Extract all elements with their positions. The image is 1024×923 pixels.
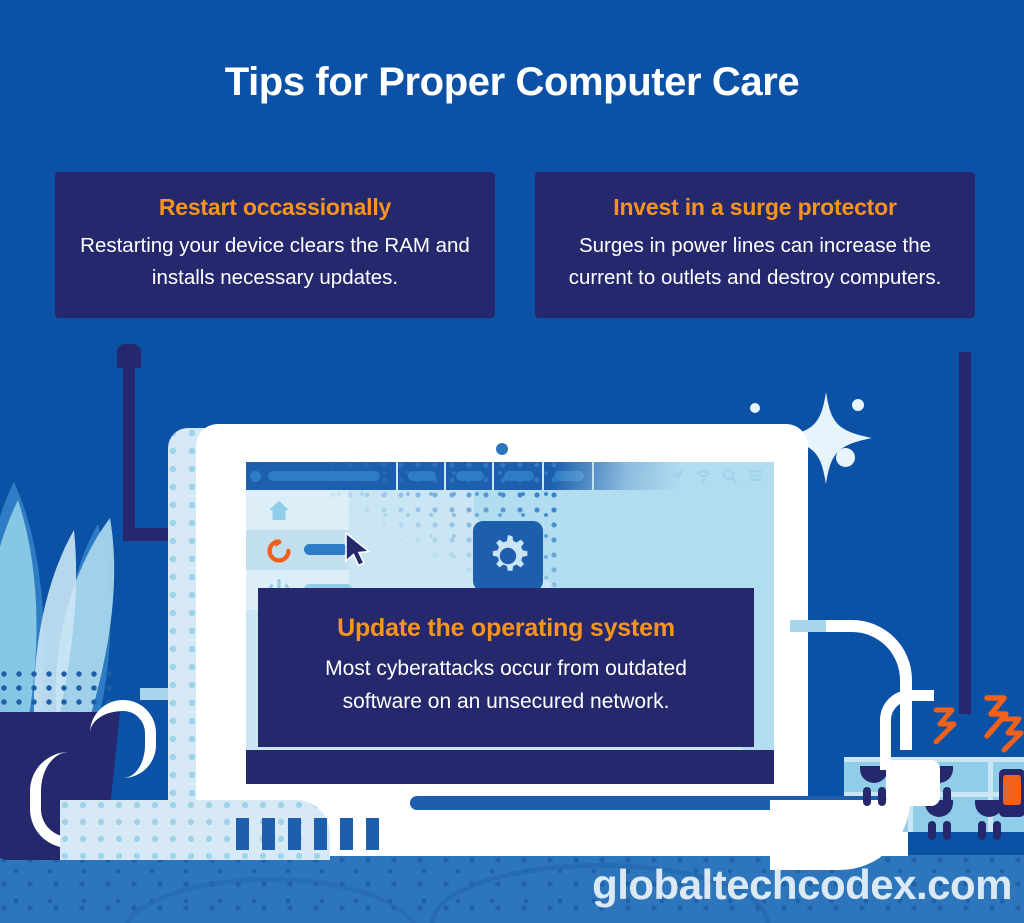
- outlet-pins: [978, 821, 1003, 840]
- laptop-vent: [366, 818, 379, 850]
- gear-icon: [484, 532, 532, 580]
- power-cable-left-bend-2: [90, 700, 156, 778]
- lightning-bolt-icon: [932, 706, 958, 746]
- connector-left-vertical: [123, 352, 135, 534]
- tip-card-body: Surges in power lines can increase the c…: [557, 230, 953, 294]
- outlet-pins: [863, 787, 888, 806]
- laptop-vent: [262, 818, 275, 850]
- laptop-vent: [340, 818, 353, 850]
- power-strip-switch-indicator: [1003, 775, 1021, 805]
- wifi-icon[interactable]: [695, 467, 712, 484]
- menu-icon[interactable]: [747, 467, 764, 484]
- lightning-bolt-icon: [1000, 716, 1024, 754]
- tip-card-title: Invest in a surge protector: [557, 194, 953, 221]
- home-icon: [268, 500, 290, 521]
- screen-lower-panel: [246, 750, 774, 784]
- watermark: globaltechcodex.com: [0, 861, 1024, 909]
- laptop-power-jack: [790, 620, 826, 632]
- tip-card-title: Update the operating system: [284, 614, 728, 643]
- infographic-canvas: Tips for Proper Computer Care: [0, 0, 1024, 923]
- gear-badge[interactable]: [473, 521, 543, 591]
- laptop-vent: [314, 818, 327, 850]
- search-icon[interactable]: [721, 467, 738, 484]
- outlet-pins: [928, 821, 953, 840]
- sparkle-dot-3: [836, 448, 855, 467]
- tip-card-restart: Restart occassionally Restarting your de…: [55, 172, 495, 318]
- mouse-cursor-icon[interactable]: [344, 532, 374, 570]
- screen-status-icons: [669, 467, 764, 484]
- power-plug: [886, 760, 940, 806]
- plug-cord: [880, 690, 934, 770]
- restart-icon: [266, 538, 292, 564]
- sparkle-dot-1: [750, 403, 760, 413]
- page-title: Tips for Proper Computer Care: [0, 60, 1024, 105]
- navigation-arrow-icon[interactable]: [669, 467, 686, 484]
- tip-card-body: Most cyberattacks occur from outdated so…: [284, 653, 728, 719]
- laptop-vent: [288, 818, 301, 850]
- connector-right-vertical: [959, 352, 971, 714]
- tip-card-update-os: Update the operating system Most cyberat…: [258, 588, 754, 747]
- power-outlet[interactable]: [925, 800, 953, 840]
- laptop-webcam: [496, 443, 508, 455]
- power-outlet[interactable]: [860, 766, 888, 806]
- tip-card-body: Restarting your device clears the RAM an…: [77, 230, 473, 294]
- laptop-vent: [236, 818, 249, 850]
- tip-card-title: Restart occassionally: [77, 194, 473, 221]
- sparkle-dot-2: [852, 399, 864, 411]
- tip-card-surge-protector: Invest in a surge protector Surges in po…: [535, 172, 975, 318]
